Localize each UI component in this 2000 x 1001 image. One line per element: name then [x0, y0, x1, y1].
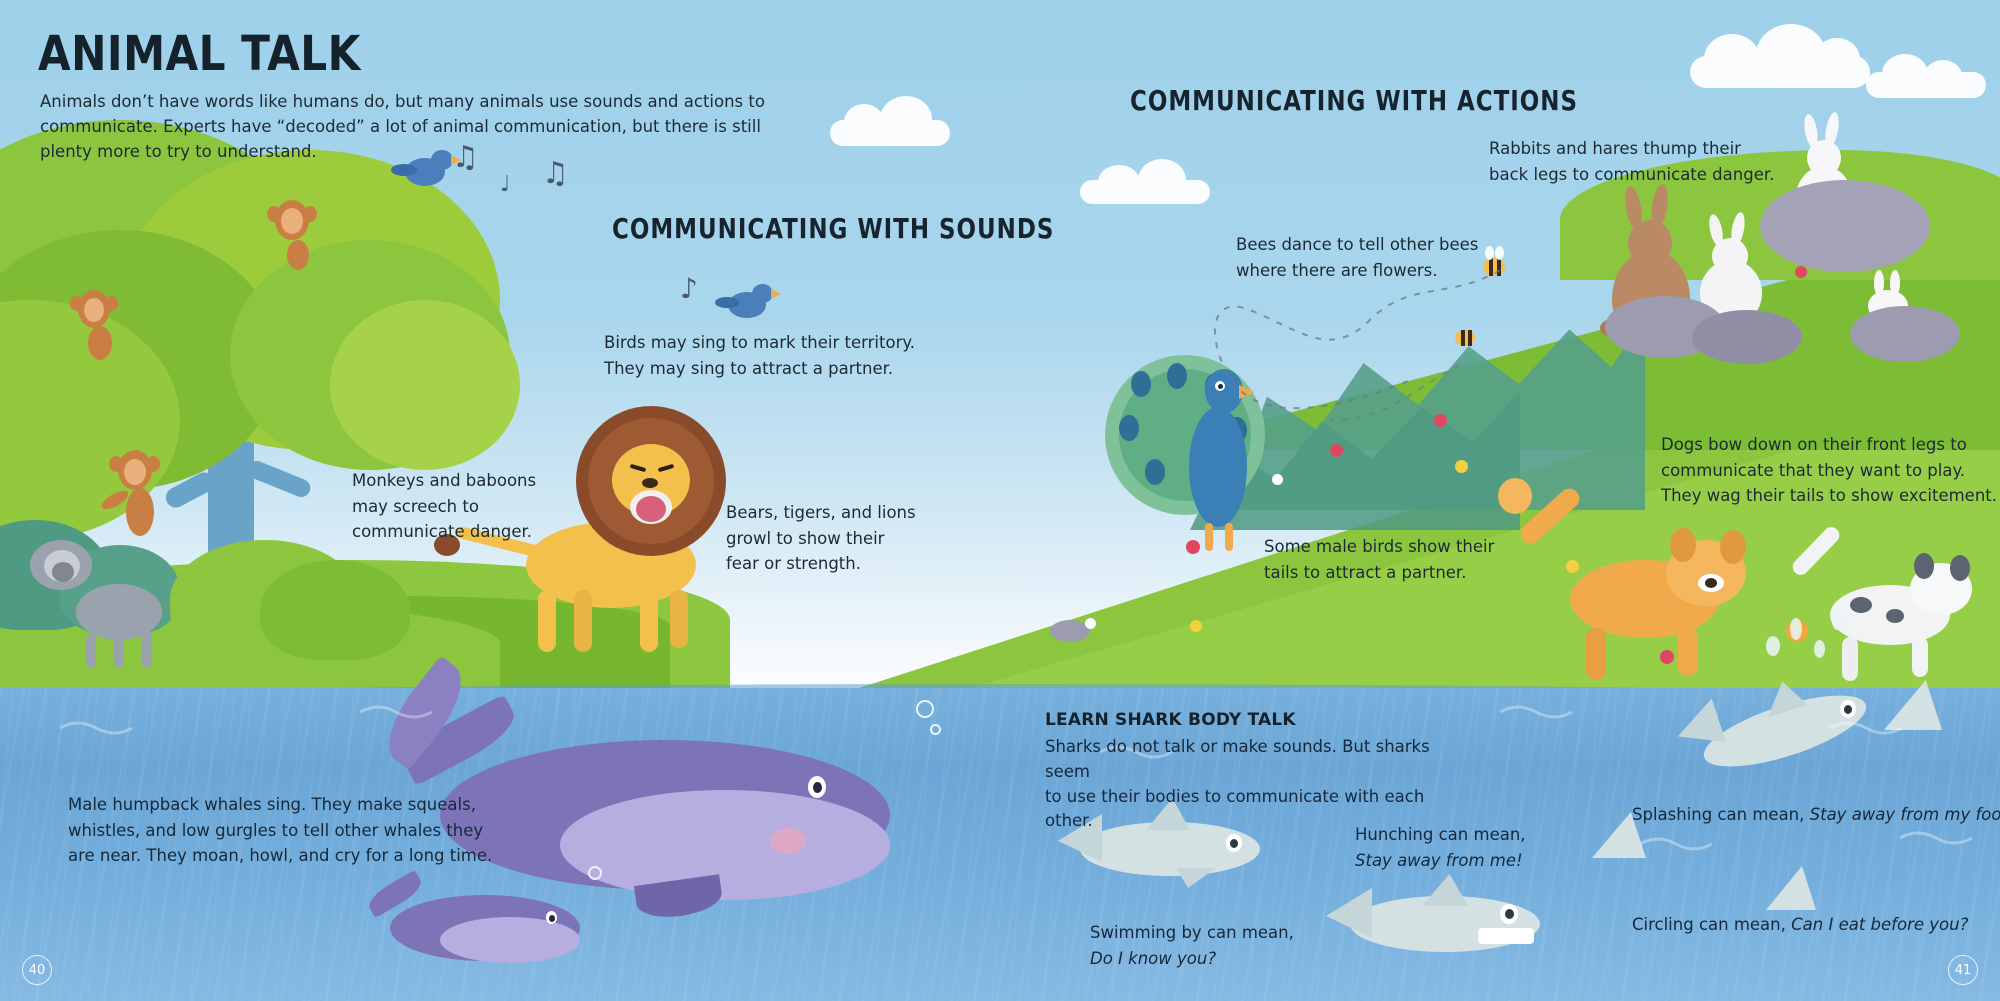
page-number-left: 40	[22, 955, 52, 985]
shark-caption-splashing: Splashing can mean, Stay away from my fo…	[1632, 802, 2000, 828]
caption-rabbits: Rabbits and hares thump their back legs …	[1489, 136, 1774, 187]
tree-canopy	[330, 300, 520, 470]
flower	[1330, 444, 1343, 457]
caption-bees: Bees dance to tell other bees where ther…	[1236, 232, 1478, 283]
shark-caption-phrase: Can I eat before you?	[1791, 915, 1968, 934]
rock	[1850, 306, 1960, 362]
bee-flight-path	[1210, 270, 1730, 530]
cloud-icon	[1080, 180, 1210, 204]
flower	[1434, 414, 1447, 427]
caption-bears: Bears, tigers, and lions growl to show t…	[726, 500, 916, 577]
shark-caption-phrase: Stay away from my food!	[1810, 805, 2000, 824]
flower	[1186, 540, 1200, 554]
shark-caption-lead: Circling can mean,	[1632, 915, 1791, 934]
rock	[1760, 180, 1930, 272]
book-spread: ♫ ♩ ♫ ♪	[0, 0, 2000, 1001]
music-note-icon: ♩	[500, 172, 510, 197]
flower	[1660, 650, 1674, 664]
rock	[1050, 620, 1090, 642]
flower	[1190, 620, 1202, 632]
shark-caption-lead: Hunching can mean,	[1355, 825, 1526, 844]
caption-monkeys: Monkeys and baboons may screech to commu…	[352, 468, 536, 545]
shark-caption-swimming: Swimming by can mean, Do I know you?	[1090, 920, 1294, 971]
shark-caption-circling: Circling can mean, Can I eat before you?	[1632, 912, 1968, 938]
flower	[1272, 474, 1283, 485]
caption-peacock: Some male birds show their tails to attr…	[1264, 534, 1494, 585]
flower	[1085, 618, 1096, 629]
bush	[260, 560, 410, 660]
shark-caption-phrase: Do I know you?	[1090, 949, 1216, 968]
flower	[1455, 460, 1468, 473]
section-heading-sounds: COMMUNICATING WITH SOUNDS	[612, 212, 1054, 245]
flower	[1795, 266, 1807, 278]
shark-panel-body: Sharks do not talk or make sounds. But s…	[1045, 735, 1445, 834]
caption-birds: Birds may sing to mark their territory. …	[604, 330, 915, 381]
shark-caption-phrase: Stay away from me!	[1355, 851, 1523, 870]
cloud-icon	[1866, 72, 1986, 98]
shark-caption-lead: Splashing can mean,	[1632, 805, 1810, 824]
shark-caption-lead: Swimming by can mean,	[1090, 923, 1294, 942]
shark-panel-heading: LEARN SHARK BODY TALK	[1045, 710, 1296, 730]
page-number-right: 41	[1948, 955, 1978, 985]
shark-caption-hunching: Hunching can mean, Stay away from me!	[1355, 822, 1526, 873]
music-note-icon: ♪	[680, 272, 698, 305]
page-title: ANIMAL TALK	[38, 26, 361, 82]
flower	[1566, 560, 1579, 573]
cloud-icon	[1690, 56, 1870, 88]
caption-dogs: Dogs bow down on their front legs to com…	[1661, 432, 1997, 509]
cloud-icon	[830, 120, 950, 146]
intro-paragraph: Animals don’t have words like humans do,…	[40, 90, 800, 164]
section-heading-actions: COMMUNICATING WITH ACTIONS	[1130, 84, 1578, 117]
caption-whales: Male humpback whales sing. They make squ…	[68, 792, 492, 869]
